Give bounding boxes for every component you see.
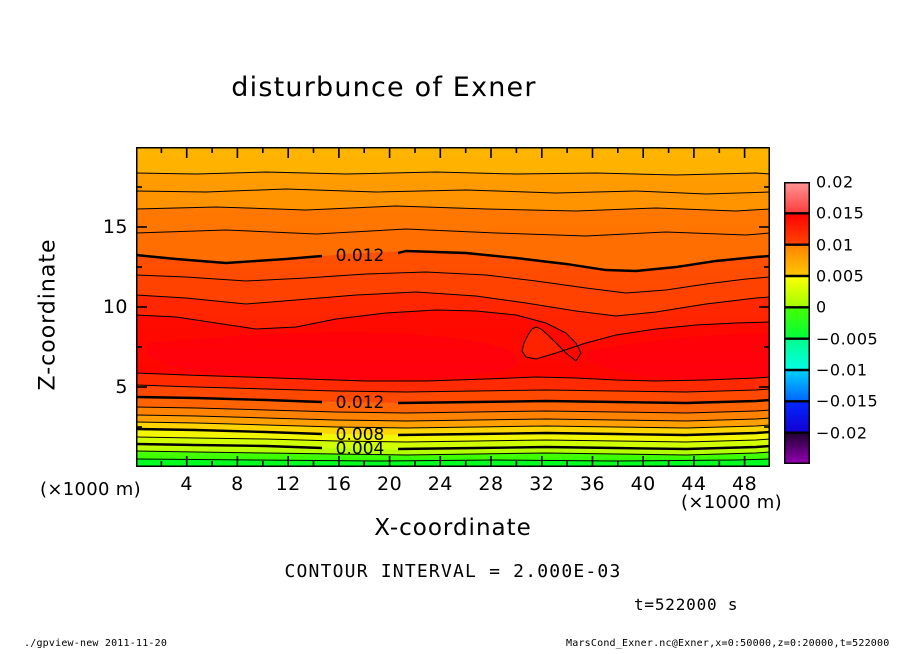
contour-interval-note: CONTOUR INTERVAL = 2.000E-03 bbox=[136, 561, 770, 582]
colorbar-bands bbox=[784, 182, 810, 464]
colorbar-tick-label: 0.015 bbox=[816, 204, 864, 223]
contour-plot: 0.012 0.012 0.008 0.004 bbox=[136, 147, 770, 467]
colorbar-tick-label: −0.01 bbox=[816, 361, 868, 380]
x-axis-title: X-coordinate bbox=[136, 515, 770, 541]
contour-label: 0.012 bbox=[336, 393, 385, 413]
x-axis-units-left: (×1000 m) bbox=[40, 479, 141, 500]
y-tick-label: 10 bbox=[88, 296, 128, 318]
contour-plot-svg: 0.012 0.012 0.008 0.004 bbox=[136, 147, 770, 467]
colorbar-svg bbox=[784, 182, 810, 464]
y-tick-label: 15 bbox=[88, 216, 128, 238]
time-note: t=522000 s bbox=[634, 595, 738, 614]
colorbar-tick-label: −0.005 bbox=[816, 329, 878, 348]
page-title: disturbunce of Exner bbox=[0, 72, 768, 103]
y-tick-label: 5 bbox=[88, 376, 128, 398]
colorbar-tick-label: 0.005 bbox=[816, 267, 864, 286]
y-axis-title: Z-coordinate bbox=[36, 205, 61, 425]
colorbar-tick-label: 0.02 bbox=[816, 173, 854, 192]
colorbar[interactable]: 0.02 0.015 0.01 0.005 0 −0.005 −0.01 −0.… bbox=[784, 182, 810, 464]
footer-command-note: ./gpview-new 2011-11-20 bbox=[24, 638, 167, 649]
x-axis-tick-labels: 4 8 12 16 20 24 28 32 36 40 44 48 bbox=[136, 473, 770, 497]
x-axis-units-right: (×1000 m) bbox=[681, 492, 782, 513]
colorbar-tick-label: −0.015 bbox=[816, 392, 878, 411]
colorbar-tick-label: −0.02 bbox=[816, 423, 868, 442]
y-axis-tick-labels: 5 10 15 bbox=[88, 147, 128, 467]
contour-fill-layer bbox=[136, 147, 770, 467]
colorbar-tick-label: 0 bbox=[816, 298, 827, 317]
colorbar-tick-label: 0.01 bbox=[816, 235, 854, 254]
contour-label: 0.012 bbox=[336, 246, 385, 266]
footer-source-note: MarsCond_Exner.nc@Exner,x=0:50000,z=0:20… bbox=[566, 638, 889, 649]
contour-label: 0.004 bbox=[336, 439, 385, 459]
